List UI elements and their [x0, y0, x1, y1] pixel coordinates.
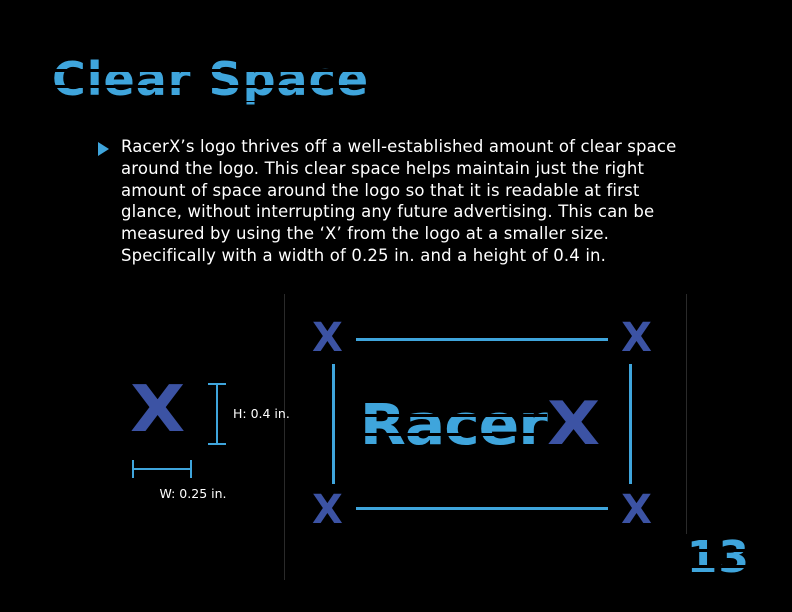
height-dimension-line: [208, 383, 226, 445]
page-number: 13: [687, 536, 750, 580]
logo-wordmark-racer: Racer: [359, 398, 546, 454]
logo-wordmark-x: X: [547, 394, 599, 454]
corner-x-bottom-right: X: [621, 490, 652, 530]
width-label: W: 0.25 in.: [118, 486, 268, 501]
clearspace-diagram: X X X X RacerX: [312, 318, 652, 530]
measurement-panel: X H: 0.4 in. W: 0.25 in.: [118, 378, 278, 503]
width-cap-right: [190, 460, 192, 478]
guide-line-top: [356, 338, 608, 341]
divider-right: [686, 294, 687, 534]
page-title: Clear Space: [52, 56, 369, 102]
racerx-logo: RacerX: [312, 394, 652, 454]
measurement-x-glyph: X: [130, 378, 185, 442]
width-dimension-line: [132, 460, 192, 478]
height-stem: [216, 385, 218, 443]
corner-x-top-right: X: [621, 318, 652, 358]
guide-line-bottom: [356, 507, 608, 510]
height-cap-bottom: [208, 443, 226, 445]
width-stem: [134, 468, 190, 470]
height-label: H: 0.4 in.: [233, 406, 290, 421]
slide-canvas: Clear Space RacerX’s logo thrives off a …: [0, 0, 792, 612]
corner-x-top-left: X: [312, 318, 343, 358]
body-block: RacerX’s logo thrives off a well-establi…: [98, 136, 688, 267]
triangle-right-icon: [98, 142, 109, 156]
body-paragraph: RacerX’s logo thrives off a well-establi…: [121, 136, 688, 267]
divider-left: [284, 294, 285, 580]
corner-x-bottom-left: X: [312, 490, 343, 530]
